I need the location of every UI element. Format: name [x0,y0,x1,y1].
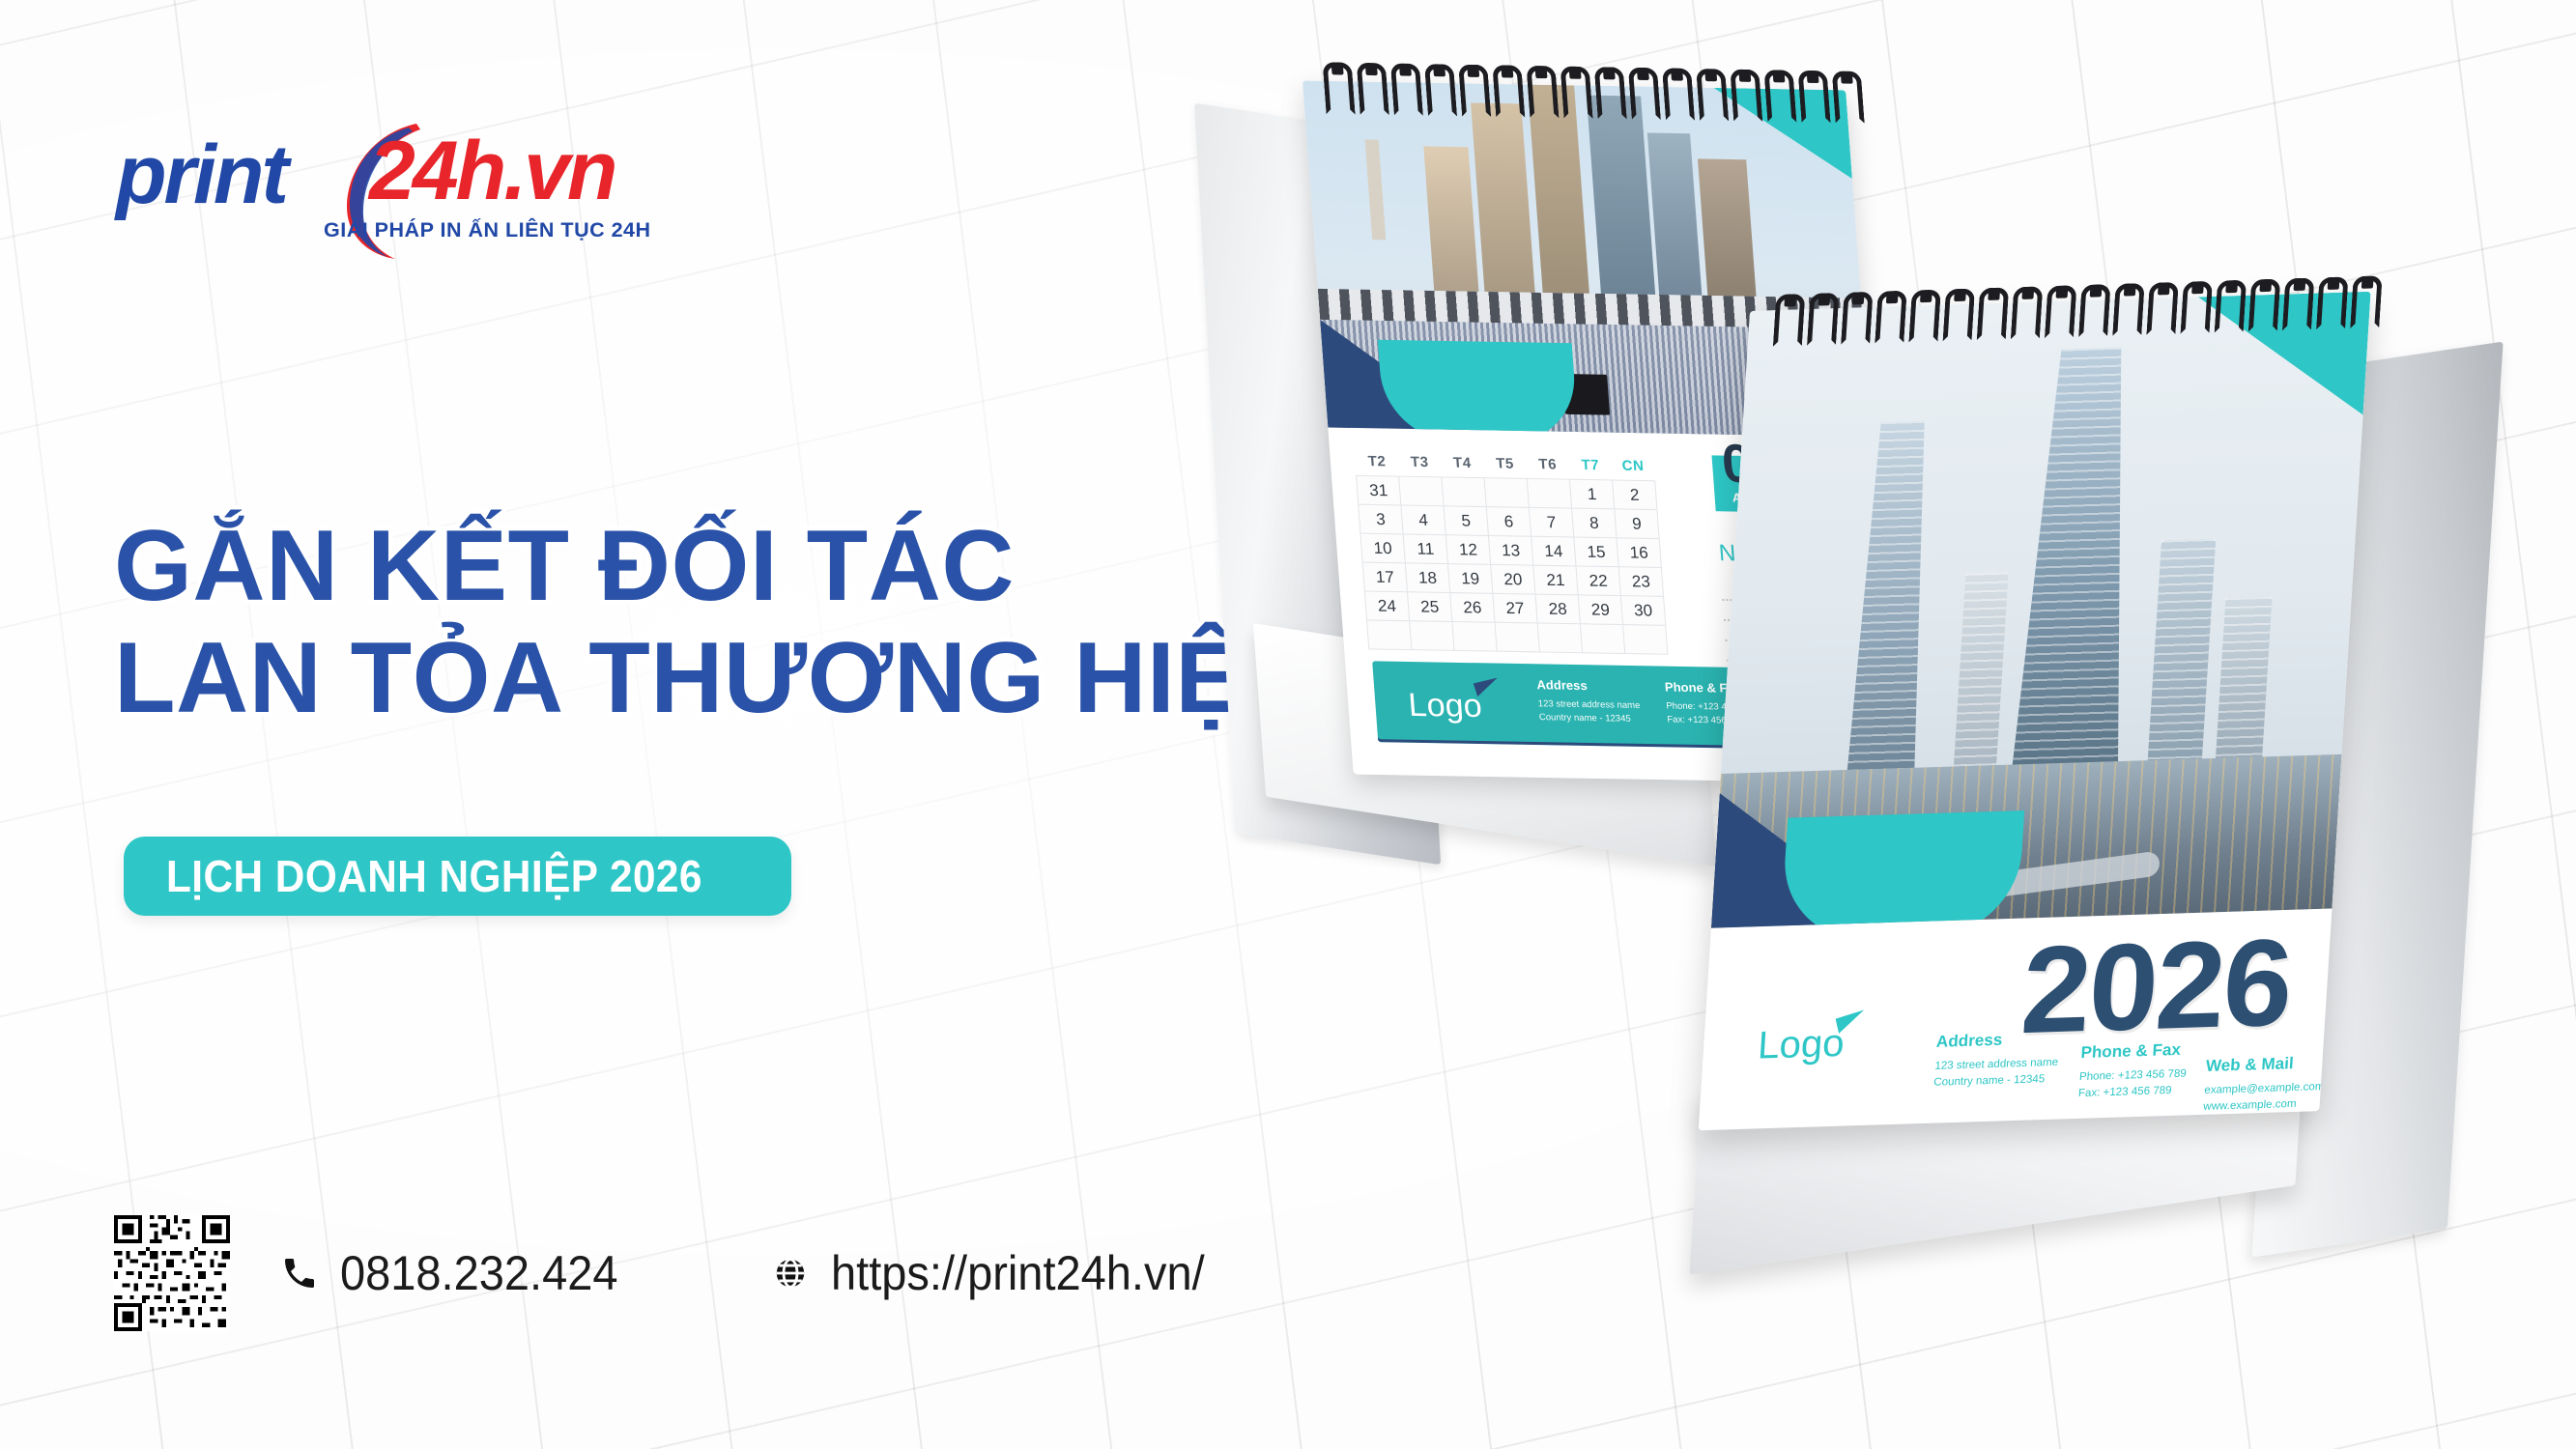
cover-address-title: Address [1935,1029,2060,1052]
date-cell: 4 [1400,505,1445,536]
glass-skyscrapers-photo [1711,292,2371,928]
logo-24h-word: 24h.vn [369,129,615,213]
date-cell: 1 [1569,479,1615,510]
contact-website[interactable]: https://print24h.vn/ [771,1245,1228,1301]
spiral-binding-back [1323,62,1865,124]
date-cell: 10 [1360,533,1405,564]
date-cell: 28 [1534,594,1580,625]
phone-number: 0818.232.424 [340,1245,618,1301]
month-grid: T2 T3 T4 T5 T6 T7 CN 31 1 [1355,453,1706,656]
cover-logo-text: Logo [1757,1022,1846,1068]
teal-rounded-accent [1780,810,2024,928]
date-cell [1537,623,1583,654]
date-cell: 12 [1445,534,1491,565]
date-cell [1398,476,1444,507]
date-cell [1527,478,1572,509]
day-header: T6 [1526,456,1569,473]
date-cell: 11 [1403,533,1448,564]
footer-address-title: Address [1536,677,1640,694]
date-cell: 24 [1364,591,1410,622]
date-cell: 9 [1614,508,1659,539]
cover-address-line2: Country name - 12345 [1933,1071,2058,1092]
date-cell: 31 [1356,475,1401,506]
date-cell: 22 [1575,565,1620,596]
day-header: T5 [1483,455,1527,472]
teal-rounded-accent [1378,340,1579,438]
date-cell [1366,619,1412,650]
cover-phone-title: Phone & Fax [2080,1040,2189,1063]
date-cell: 26 [1449,592,1495,623]
footer-address-line2: Country name - 12345 [1538,711,1642,726]
website-url: https://print24h.vn/ [831,1245,1205,1301]
cover-phone-column: Phone & Fax Phone: +123 456 789 Fax: +12… [2077,1040,2189,1103]
day-header: T2 [1355,453,1398,470]
banner-canvas: print 24h.vn GIẢI PHÁP IN ẤN LIÊN TỤC 24… [0,0,2576,1449]
qr-code-icon[interactable] [114,1215,230,1331]
date-cell: 23 [1618,566,1664,597]
cover-phone-line2: Fax: +123 456 789 [2077,1083,2186,1103]
product-badge-label: LỊCH DOANH NGHIỆP 2026 [166,850,702,902]
date-cell [1409,620,1454,651]
contact-footer: 0818.232.424 https://print24h.vn/ [114,1206,1228,1341]
day-header: T7 [1568,457,1612,474]
footer-logo-text: Logo [1407,687,1483,725]
cover-logo-arrow-icon [1836,1010,1868,1034]
logo-tagline: GIẢI PHÁP IN ẤN LIÊN TỤC 24H [324,218,651,242]
date-cell [1484,477,1530,508]
cover-web-column: Web & Mail example@example.com www.examp… [2203,1053,2327,1116]
date-grid: 31 1 2 3 4 5 6 7 8 9 10 [1357,476,1707,656]
footer-logo-arrow-icon [1474,678,1502,696]
date-cell [1441,476,1486,507]
headline-line-2: LAN TỎA THƯƠNG HIỆU [114,622,1322,734]
cover-web-title: Web & Mail [2205,1053,2326,1076]
date-cell [1580,623,1625,654]
date-cell [1451,621,1497,652]
logo-print-word: print [116,133,286,216]
date-cell: 18 [1405,562,1450,593]
date-cell: 8 [1571,508,1617,539]
date-cell: 20 [1490,564,1535,595]
date-cell: 14 [1531,536,1576,567]
date-cell: 15 [1573,537,1618,568]
date-cell: 17 [1362,562,1408,593]
day-header: T3 [1398,454,1442,471]
date-cell: 16 [1616,537,1661,568]
headline-line-1: GẮN KẾT ĐỐI TÁC [114,510,1322,622]
date-cell: 27 [1492,593,1537,624]
calendar-front[interactable]: 2026 Logo Address 123 street address nam… [1678,256,2476,1344]
date-cell [1622,624,1668,655]
calendar-front-cover: 2026 Logo Address 123 street address nam… [1699,292,2371,1131]
phone-icon [280,1252,319,1294]
day-header-row: T2 T3 T4 T5 T6 T7 CN [1355,453,1694,475]
date-cell: 7 [1529,507,1574,538]
headline-block: GẮN KẾT ĐỐI TÁC LAN TỎA THƯƠNG HIỆU [114,510,1322,735]
globe-icon [771,1252,810,1294]
brand-logo[interactable]: print 24h.vn GIẢI PHÁP IN ẤN LIÊN TỤC 24… [116,126,618,256]
calendar-mockups: T2 T3 T4 T5 T6 T7 CN 31 1 [1295,58,2576,1372]
date-cell: 29 [1578,594,1623,625]
date-cell: 6 [1486,506,1531,537]
date-cell: 25 [1407,591,1452,622]
date-cell: 3 [1358,504,1403,535]
day-header: T4 [1441,454,1484,471]
date-cell: 19 [1447,563,1493,594]
date-cell [1495,622,1540,653]
date-cell: 2 [1612,479,1657,510]
product-badge[interactable]: LỊCH DOANH NGHIỆP 2026 [124,837,791,916]
cover-address-column: Address 123 street address name Country … [1933,1029,2061,1092]
day-header: CN [1611,458,1654,475]
date-cell: 21 [1532,565,1578,596]
date-cell: 5 [1444,505,1489,536]
contact-phone[interactable]: 0818.232.424 [280,1245,636,1301]
footer-address-column: Address 123 street address name Country … [1536,677,1642,725]
date-cell: 30 [1620,595,1666,626]
date-cell: 13 [1488,535,1533,566]
